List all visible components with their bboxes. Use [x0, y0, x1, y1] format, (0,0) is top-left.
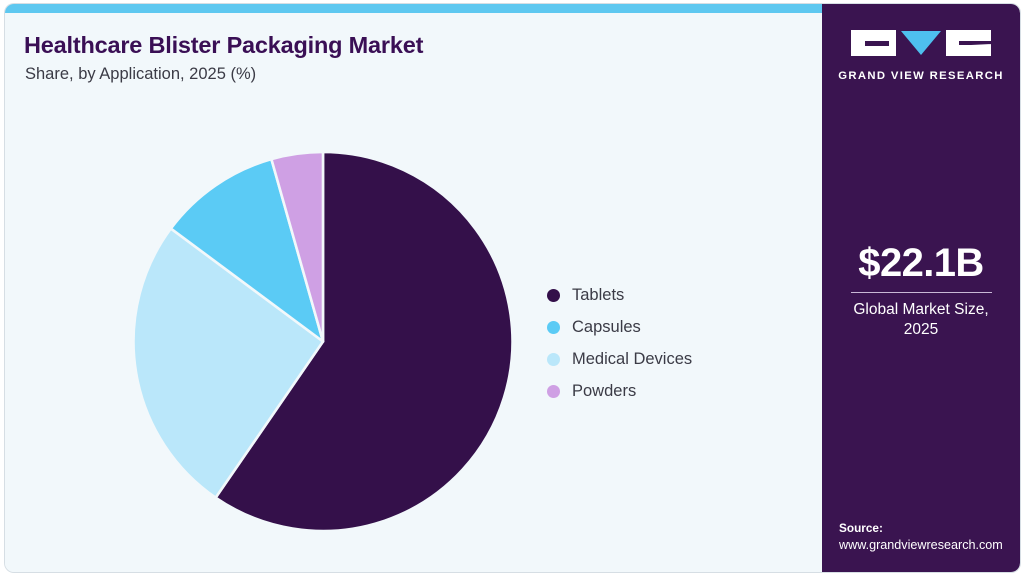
legend-label-tablets: Tablets — [572, 287, 624, 304]
logo-letter-v-triangle-icon — [901, 31, 941, 55]
gvr-logo-icon — [851, 30, 991, 56]
source-label: Source: — [839, 520, 1017, 537]
pie-chart — [129, 144, 519, 534]
headline-stat: $22.1B Global Market Size, 2025 — [822, 242, 1020, 340]
source-url[interactable]: www.grandviewresearch.com — [839, 537, 1017, 553]
page-subtitle: Share, by Application, 2025 (%) — [25, 65, 256, 84]
market-size-caption: Global Market Size, 2025 — [822, 300, 1020, 340]
legend-swatch-medical-devices — [547, 353, 560, 366]
legend-label-powders: Powders — [572, 383, 636, 400]
infographic-card: Healthcare Blister Packaging Market Shar… — [5, 4, 1020, 572]
chart-legend: Tablets Capsules Medical Devices Powders — [547, 279, 797, 407]
side-panel: GRAND VIEW RESEARCH $22.1B Global Market… — [822, 4, 1020, 572]
stat-divider — [851, 292, 992, 293]
legend-label-medical-devices: Medical Devices — [572, 351, 692, 368]
infographic-root: Healthcare Blister Packaging Market Shar… — [0, 0, 1025, 576]
logo-letter-r — [946, 30, 991, 56]
page-title: Healthcare Blister Packaging Market — [24, 32, 423, 59]
pie-chart-svg — [129, 144, 519, 534]
legend-label-capsules: Capsules — [572, 319, 641, 336]
legend-swatch-capsules — [547, 321, 560, 334]
market-size-value: $22.1B — [822, 242, 1020, 284]
legend-swatch-powders — [547, 385, 560, 398]
gvr-logo-svg — [851, 30, 991, 56]
brand-name: GRAND VIEW RESEARCH — [822, 70, 1020, 82]
legend-item-tablets[interactable]: Tablets — [547, 279, 797, 311]
legend-item-capsules[interactable]: Capsules — [547, 311, 797, 343]
legend-item-powders[interactable]: Powders — [547, 375, 797, 407]
chart-pane: Healthcare Blister Packaging Market Shar… — [5, 13, 822, 572]
pie-slice-group — [134, 152, 513, 531]
legend-swatch-tablets — [547, 289, 560, 302]
logo-letter-g — [851, 30, 896, 56]
top-accent-bar — [5, 4, 822, 13]
brand-logo: GRAND VIEW RESEARCH — [822, 30, 1020, 82]
legend-item-medical-devices[interactable]: Medical Devices — [547, 343, 797, 375]
source-footer: Source: www.grandviewresearch.com — [839, 520, 1017, 553]
